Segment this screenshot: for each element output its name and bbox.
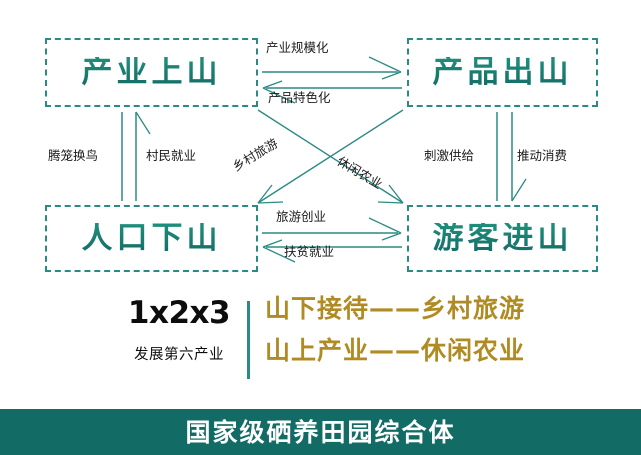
slogan-line-2: 山上产业——休闲农业 bbox=[265, 338, 525, 363]
slogan-subtitle: 发展第六产业 bbox=[118, 348, 240, 363]
edge-label-venture: 旅游创业 bbox=[276, 211, 326, 224]
node-product-out-mountain[interactable]: 产品出山 bbox=[407, 38, 598, 107]
node-label: 产品出山 bbox=[433, 57, 573, 88]
node-tourist-in-mountain[interactable]: 游客进山 bbox=[407, 205, 598, 272]
edge-label-rural-tourism: 乡村旅游 bbox=[231, 137, 280, 173]
edge-arrow-scale bbox=[262, 57, 401, 79]
node-label: 游客进山 bbox=[433, 223, 573, 254]
edge-label-scale: 产业规模化 bbox=[266, 42, 329, 55]
slogan-right-column: 山下接待——乡村旅游 山上产业——休闲农业 bbox=[265, 296, 525, 363]
diagram-canvas: 产业上山 产品出山 人口下山 游客进山 产业规模化 产品特色化 旅游创业 扶贫就… bbox=[0, 0, 641, 455]
banner-title: 国家级硒养田园综合体 bbox=[185, 420, 455, 445]
bottom-banner: 国家级硒养田园综合体 bbox=[0, 409, 641, 455]
slogan-divider bbox=[247, 301, 250, 379]
edge-label-supply: 刺激供给 bbox=[424, 150, 474, 163]
edge-label-employ: 村民就业 bbox=[146, 150, 196, 163]
slogan-section: 1x2x3 发展第六产业 山下接待——乡村旅游 山上产业——休闲农业 bbox=[0, 297, 641, 385]
edge-arrow-rural bbox=[258, 110, 403, 203]
node-label: 产业上山 bbox=[82, 57, 222, 88]
slogan-number: 1x2x3 bbox=[118, 297, 240, 330]
edge-label-poverty: 扶贫就业 bbox=[284, 246, 334, 259]
node-population-down-mountain[interactable]: 人口下山 bbox=[45, 205, 258, 272]
edge-label-consume: 推动消费 bbox=[517, 150, 567, 163]
edge-label-leisure-agriculture: 休闲农业 bbox=[335, 155, 384, 191]
edge-label-feature: 产品特色化 bbox=[268, 92, 331, 105]
edge-arrow-leisure bbox=[258, 110, 403, 203]
slogan-line-1: 山下接待——乡村旅游 bbox=[265, 296, 525, 321]
edge-label-cage: 腾笼换鸟 bbox=[48, 150, 98, 163]
node-industry-up-mountain[interactable]: 产业上山 bbox=[45, 38, 258, 107]
node-label: 人口下山 bbox=[82, 223, 222, 254]
slogan-left-column: 1x2x3 发展第六产业 bbox=[118, 297, 240, 362]
